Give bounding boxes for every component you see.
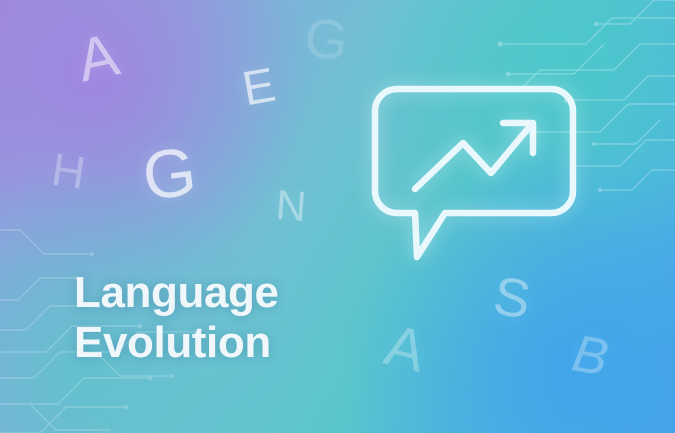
page-title: Language Evolution <box>74 268 279 367</box>
speech-bubble-trending-up-icon <box>371 85 577 265</box>
floating-letter-g-1: G <box>302 10 350 69</box>
floating-letter-e-1: E <box>239 62 279 115</box>
page-title-line-1: Language <box>74 268 279 318</box>
language-evolution-banner: A G E H G N S A B Language Evolution <box>0 0 675 433</box>
floating-letter-b-1: B <box>569 327 612 384</box>
floating-letter-s-1: S <box>490 269 534 328</box>
floating-letter-a-1: A <box>72 24 124 91</box>
floating-letter-n-1: N <box>275 184 308 228</box>
floating-letter-h-1: H <box>49 146 88 196</box>
page-title-line-2: Evolution <box>74 318 279 368</box>
floating-letter-g-2: G <box>139 137 200 211</box>
floating-letter-a-2: A <box>380 316 432 382</box>
speech-bubble-outline <box>375 89 573 257</box>
trend-line <box>415 125 531 189</box>
